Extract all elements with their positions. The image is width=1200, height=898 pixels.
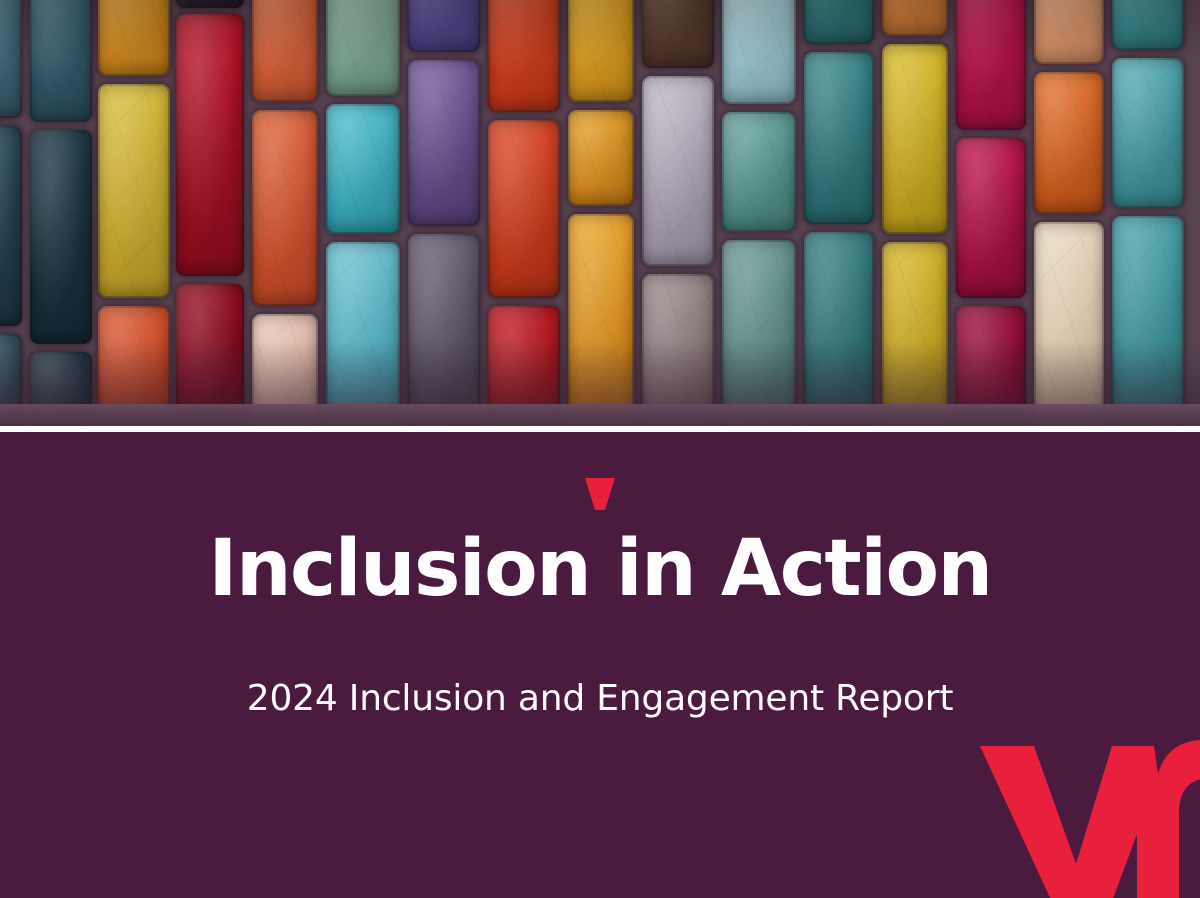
mosaic-tile [722, 112, 796, 232]
mosaic-tile [408, 0, 480, 52]
page-title: Inclusion in Action [0, 528, 1200, 611]
brand-logo [972, 738, 1200, 898]
mosaic-tile [30, 0, 92, 122]
mosaic-tile [568, 110, 634, 206]
mosaic-tile [98, 0, 170, 76]
mosaic-tile [326, 104, 400, 234]
mosaic-tile [1112, 0, 1184, 50]
mosaic-tile [722, 0, 796, 104]
marker-container [0, 478, 1200, 510]
mosaic-tile [488, 120, 560, 298]
mosaic-tile [882, 242, 948, 426]
mosaic-tile [1034, 222, 1104, 426]
mosaic-tile [804, 52, 874, 224]
mosaic-tile [956, 138, 1026, 298]
mosaic-tile [882, 0, 948, 36]
w-logo-icon [972, 738, 1200, 898]
mosaic-tile [1034, 72, 1104, 214]
mosaic-tile [0, 126, 22, 326]
mosaic-tile [568, 214, 634, 426]
mosaic-tile [408, 234, 480, 426]
mosaic-tile [956, 0, 1026, 130]
mosaic-tile [326, 242, 400, 426]
report-cover-slide: Inclusion in Action 2024 Inclusion and E… [0, 0, 1200, 898]
mosaic-tile [176, 14, 244, 276]
mosaic-tile [642, 0, 714, 68]
mosaic-tile [488, 0, 560, 112]
mosaic-tile [1034, 0, 1104, 64]
mosaic-tile [642, 76, 714, 266]
mosaic-tile [568, 0, 634, 102]
hero-mosaic-image [0, 0, 1200, 426]
mosaic-tile [0, 0, 22, 118]
mosaic-tile [326, 0, 400, 96]
mosaic-tile [722, 240, 796, 426]
mosaic-tile [252, 110, 318, 306]
mosaic-tile [176, 0, 244, 8]
mosaic-tile [252, 0, 318, 102]
mosaic-tile [408, 60, 480, 226]
mosaic-tile-wall [0, 0, 1200, 426]
title-panel: Inclusion in Action 2024 Inclusion and E… [0, 432, 1200, 898]
mosaic-tile [1112, 58, 1184, 208]
mosaic-tile [804, 232, 874, 426]
mosaic-bottom-ledge [0, 404, 1200, 426]
red-trapezoid-marker-icon [583, 478, 617, 510]
mosaic-tile [30, 130, 92, 344]
mosaic-tile [804, 0, 874, 44]
mosaic-tile [1112, 216, 1184, 426]
page-subtitle: 2024 Inclusion and Engagement Report [0, 677, 1200, 720]
mosaic-tile [882, 44, 948, 234]
mosaic-tile [98, 84, 170, 298]
